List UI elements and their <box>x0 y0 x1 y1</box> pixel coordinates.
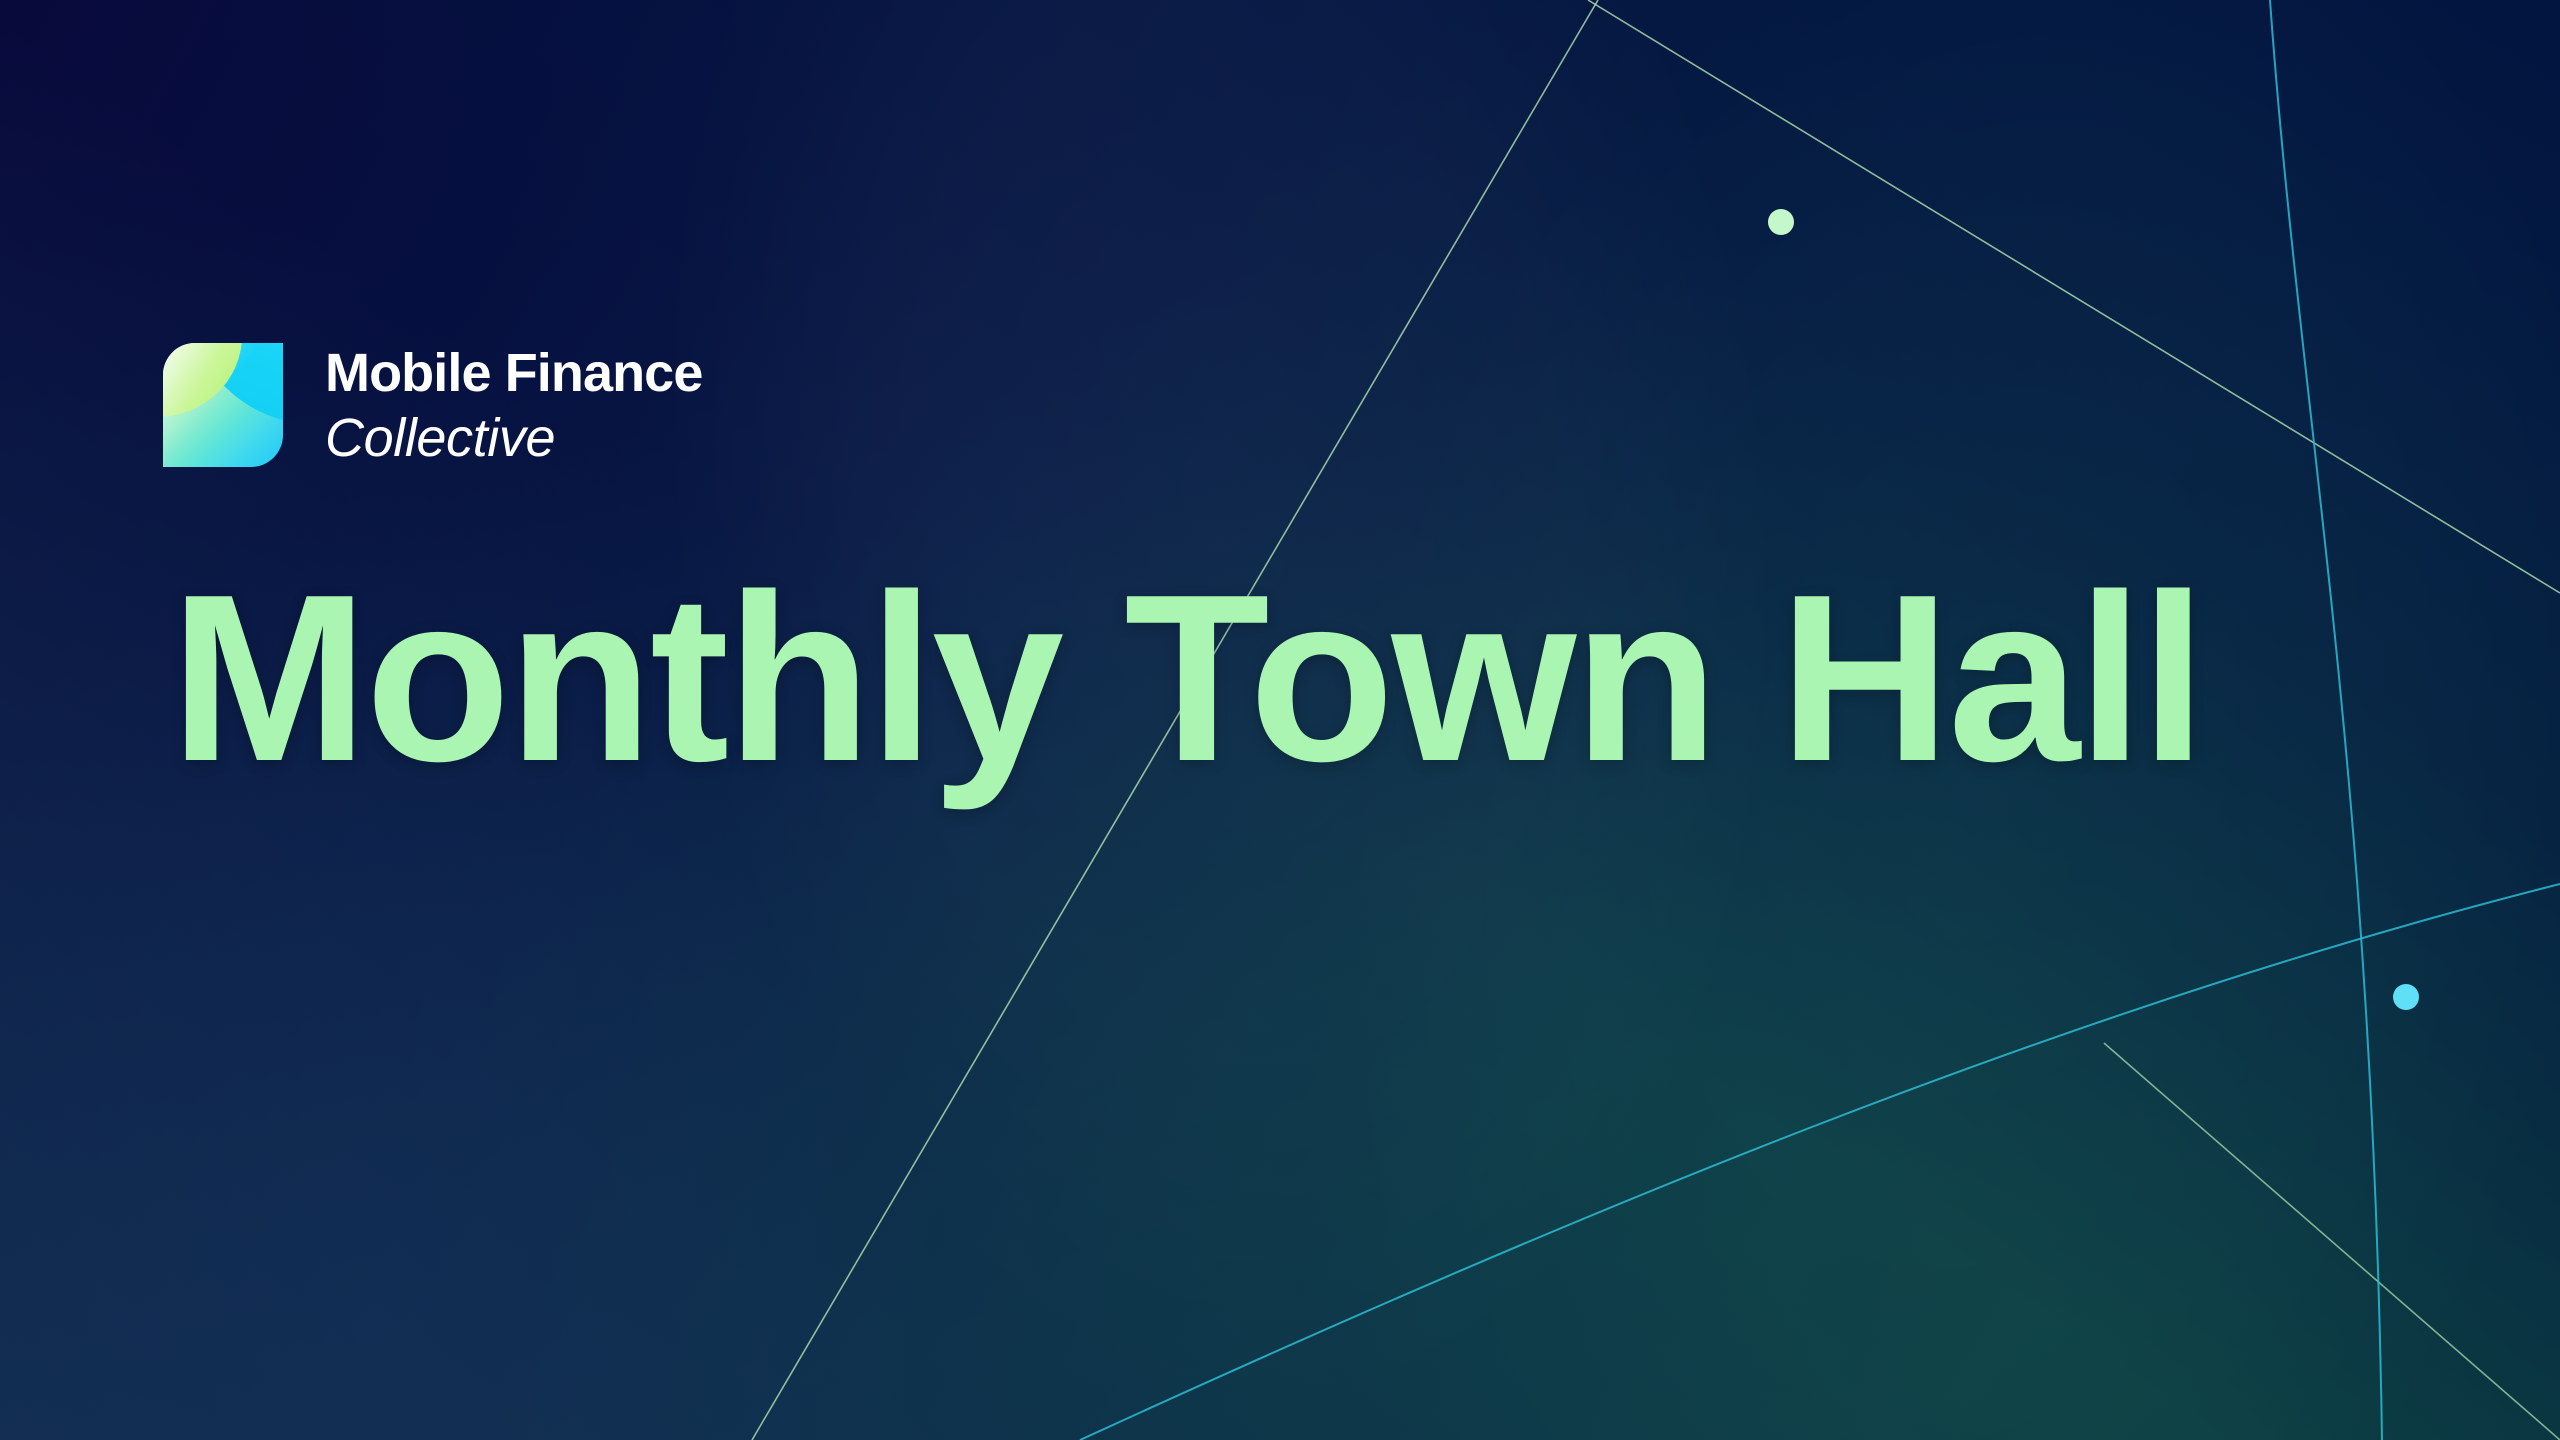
logo-mark-sheen <box>163 343 283 467</box>
title-card-canvas: Mobile Finance Collective Monthly Town H… <box>0 0 2560 1440</box>
page-title: Monthly Town Hall <box>170 560 2460 798</box>
brand-name-line-1: Mobile Finance <box>325 346 702 400</box>
brand-name-line-2: Collective <box>325 411 702 465</box>
brand-wordmark: Mobile Finance Collective <box>325 346 702 465</box>
line-green-rising <box>1588 0 2560 593</box>
brand-logo: Mobile Finance Collective <box>163 343 702 467</box>
node-cyan-icon <box>2393 984 2419 1010</box>
node-green-icon <box>1768 209 1794 235</box>
mobile-finance-collective-logo-mark-icon <box>163 343 283 467</box>
curve-cyan-sweep <box>1080 884 2560 1440</box>
line-green-lower-right <box>2104 1043 2560 1440</box>
